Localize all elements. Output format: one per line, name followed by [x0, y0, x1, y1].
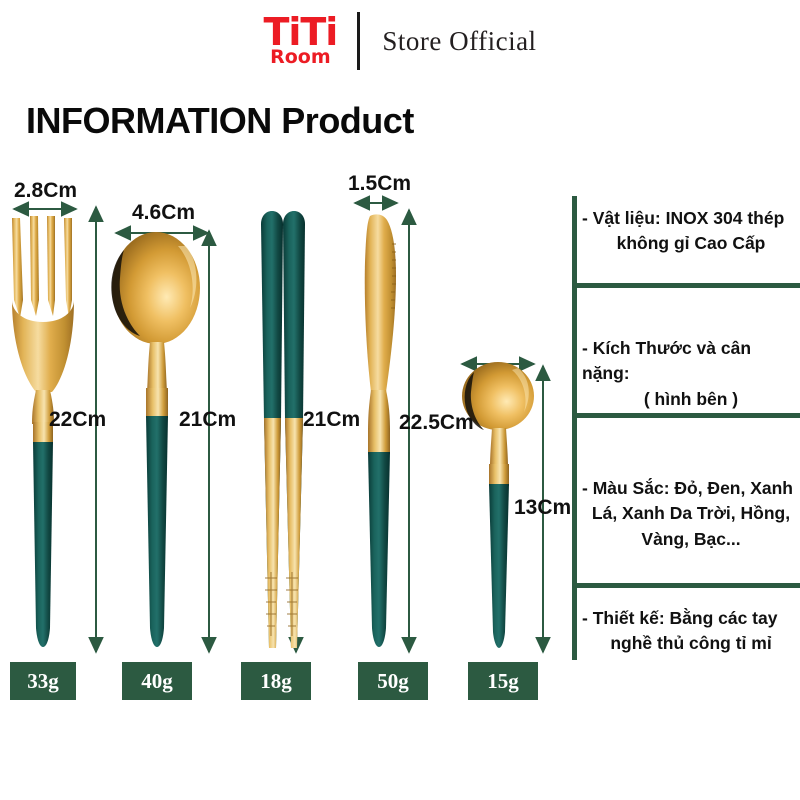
info-item-design-line2: nghề thủ công tỉ mỉ: [610, 633, 771, 653]
info-item-design: - Thiết kế: Bằng các tay nghề thủ công t…: [582, 606, 800, 657]
knife-utensil: [365, 214, 396, 647]
knife-weight-badge: 50g: [358, 662, 428, 700]
spoon-weight-badge: 40g: [122, 662, 192, 700]
info-panel-spine: [572, 196, 577, 660]
product-information-infographic: TiTi Room Store Official INFORMATION Pro…: [0, 0, 800, 800]
info-item-material-line2: không gỉ Cao Cấp: [617, 233, 766, 253]
info-item-size-line1: - Kích Thước và cân nặng:: [582, 336, 800, 387]
info-item-design-line1: - Thiết kế: Bằng các tay: [582, 606, 800, 631]
info-item-material-line1: - Vật liệu: INOX 304 thép: [582, 206, 800, 231]
info-item-colors-line2: Lá, Xanh Da Trời, Hồng,: [592, 503, 790, 523]
info-item-material: - Vật liệu: INOX 304 thép không gỉ Cao C…: [582, 206, 800, 257]
teaspoon-height-label: 13Cm: [514, 496, 571, 520]
chopsticks-weight-badge: 18g: [241, 662, 311, 700]
chopsticks-utensil: [261, 211, 305, 648]
fork-height-label: 22Cm: [49, 408, 106, 432]
spoon-utensil: [111, 232, 200, 647]
info-panel-divider-3: [572, 583, 800, 588]
chopsticks-height-label: 21Cm: [303, 408, 360, 432]
info-item-size: - Kích Thước và cân nặng: ( hình bên ): [582, 336, 800, 412]
fork-width-label: 2.8Cm: [14, 179, 77, 203]
info-panel: - Vật liệu: INOX 304 thép không gỉ Cao C…: [572, 196, 800, 660]
spoon-width-label: 4.6Cm: [132, 201, 195, 225]
info-panel-divider-1: [572, 283, 800, 288]
info-item-colors-line3: Vàng, Bạc...: [641, 529, 740, 549]
spoon-height-label: 21Cm: [179, 408, 236, 432]
knife-height-label: 22.5Cm: [399, 411, 474, 435]
info-item-colors-line1: - Màu Sắc: Đỏ, Đen, Xanh: [582, 476, 800, 501]
fork-weight-badge: 33g: [10, 662, 76, 700]
teaspoon-weight-badge: 15g: [468, 662, 538, 700]
info-item-size-line2: ( hình bên ): [644, 389, 738, 409]
info-panel-divider-2: [572, 413, 800, 418]
knife-width-label: 1.5Cm: [348, 172, 411, 196]
info-item-colors: - Màu Sắc: Đỏ, Đen, Xanh Lá, Xanh Da Trờ…: [582, 476, 800, 552]
